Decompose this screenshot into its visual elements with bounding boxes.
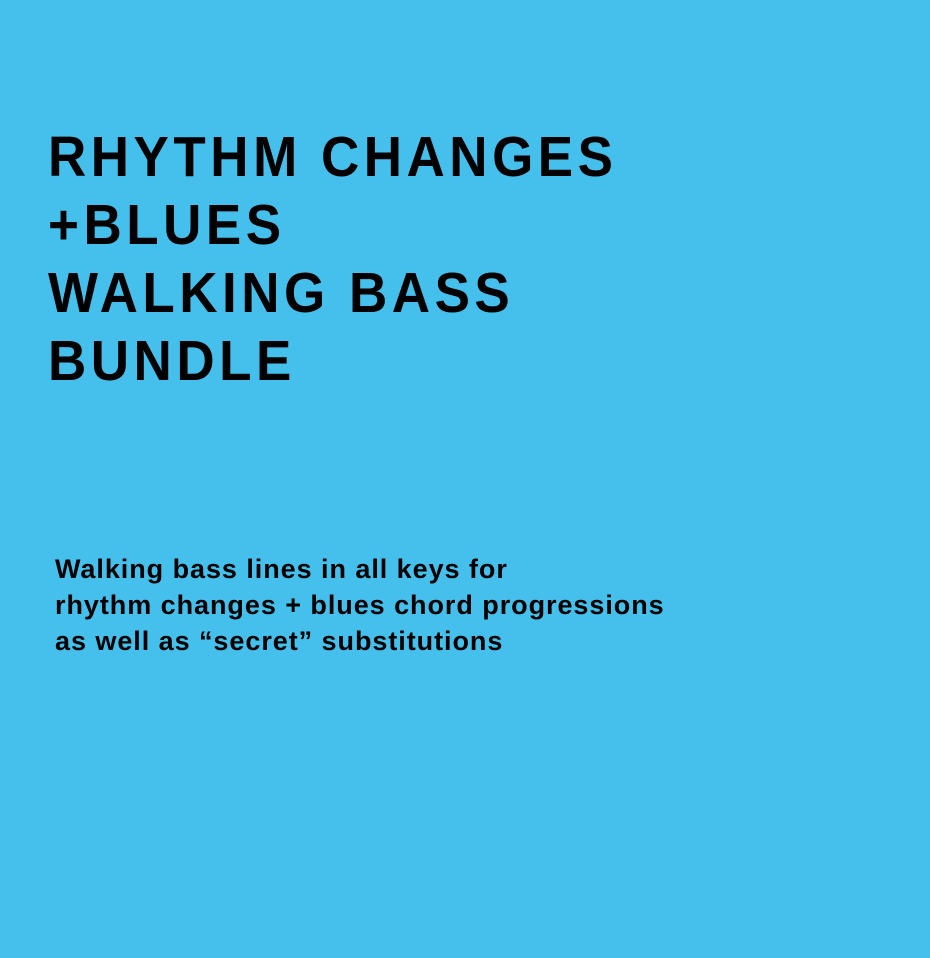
description-line-2: rhythm changes + blues chord progression… [55, 587, 925, 623]
description-line-1: Walking bass lines in all keys for [55, 551, 925, 587]
title-line-1: RHYTHM CHANGES [48, 122, 908, 194]
title-line-2: +BLUES [48, 190, 908, 262]
promo-poster: RHYTHM CHANGES +BLUES WALKING BASS BUNDL… [0, 0, 930, 958]
poster-description: Walking bass lines in all keys for rhyth… [55, 551, 925, 659]
title-line-4: BUNDLE [48, 326, 908, 398]
title-line-3: WALKING BASS [48, 258, 908, 330]
poster-title: RHYTHM CHANGES +BLUES WALKING BASS BUNDL… [48, 122, 908, 394]
description-line-3: as well as “secret” substitutions [55, 623, 925, 659]
